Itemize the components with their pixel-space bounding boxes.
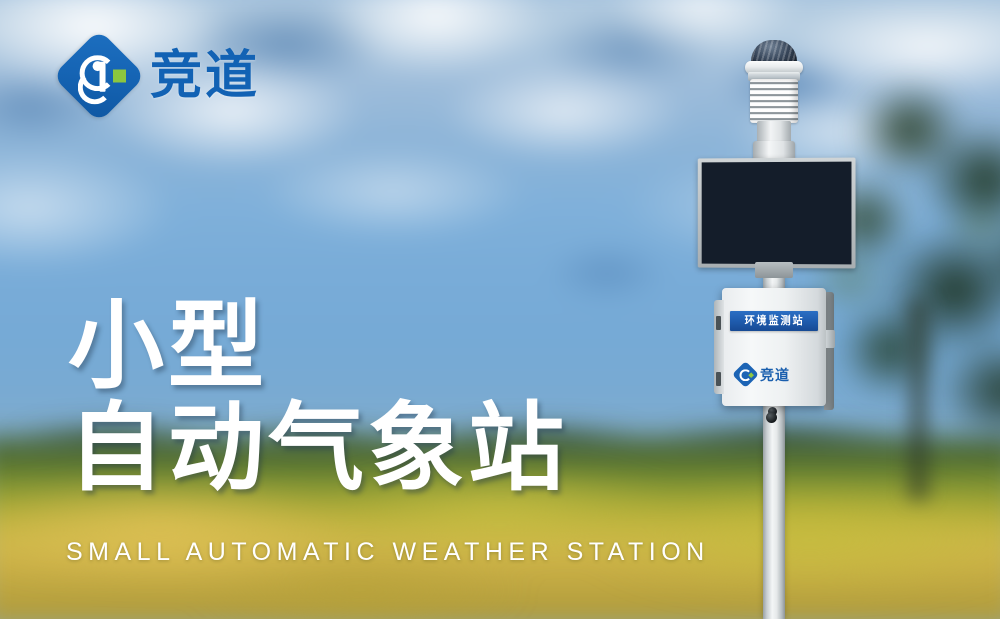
radiation-shield-icon <box>750 79 798 123</box>
sensor-neck <box>757 121 791 143</box>
headline-line-1: 小型 <box>68 296 688 398</box>
solar-panel-cells <box>702 162 852 265</box>
control-box-label-text: 环境监测站 <box>744 316 804 327</box>
headline-line-2: 自动气象站 <box>68 398 688 500</box>
control-box-label-band: 环境监测站 <box>730 311 818 331</box>
brand-logo: 竞道 <box>66 43 260 109</box>
control-box-tab <box>826 330 835 348</box>
control-box-latch-bottom <box>716 372 721 386</box>
control-box-brand: 竞道 <box>736 365 790 384</box>
control-box-brand-text: 竞道 <box>760 368 790 382</box>
control-box-latch-top <box>716 316 721 330</box>
logo-stem <box>100 62 106 92</box>
product-banner: 环境监测站 竞道 竞道 小型 自动气象站 SMALL AUTOMATIC WEA… <box>0 0 1000 619</box>
jingdao-diamond-logo-icon <box>732 361 759 388</box>
control-box <box>722 288 826 406</box>
mast-cable-port <box>766 412 777 423</box>
solar-panel-bracket <box>755 262 793 278</box>
jingdao-diamond-logo-icon <box>52 29 145 122</box>
brand-name: 竞道 <box>150 50 260 102</box>
headline-block: 小型 自动气象站 <box>68 296 688 500</box>
solar-panel-icon <box>698 158 856 269</box>
logo-hook <box>78 70 112 104</box>
logo-green-square-icon <box>113 70 126 83</box>
headline-subtitle: SMALL AUTOMATIC WEATHER STATION <box>66 538 710 567</box>
